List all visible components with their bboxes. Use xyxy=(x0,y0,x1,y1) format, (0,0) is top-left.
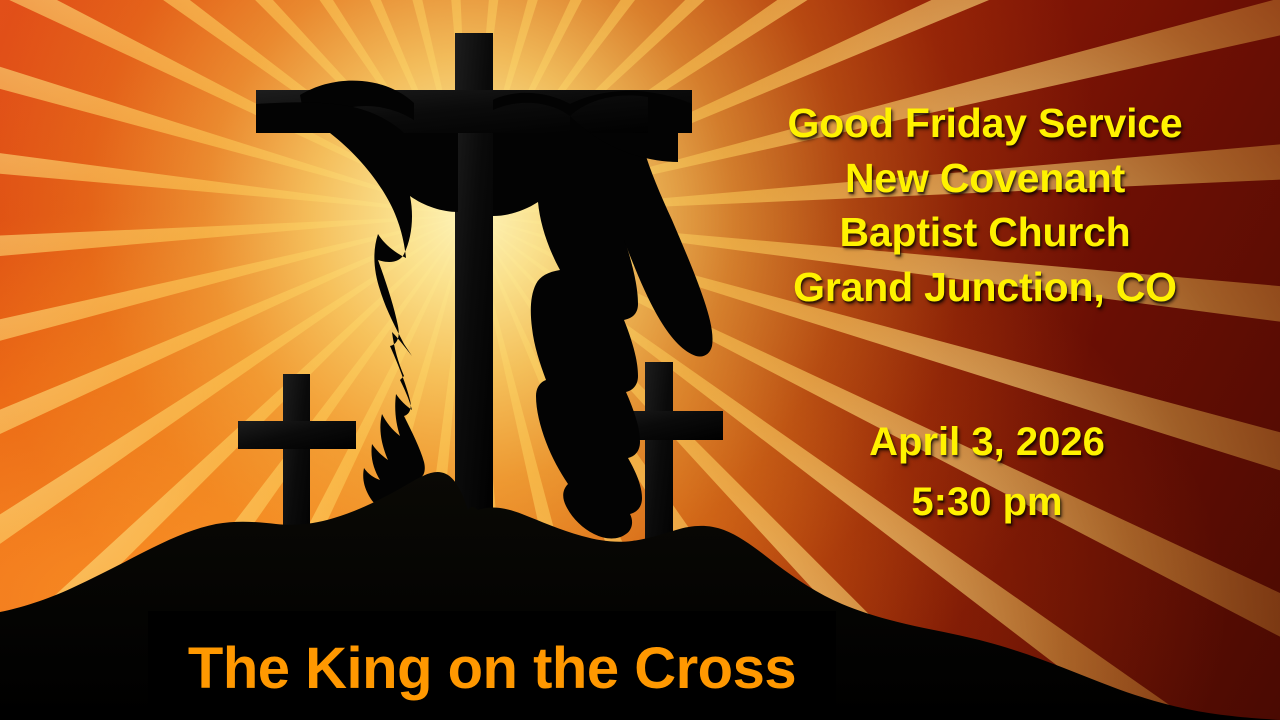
headline-line-3: Baptist Church xyxy=(735,205,1235,260)
headline-line-2: New Covenant xyxy=(735,151,1235,206)
headline-line-1: Good Friday Service xyxy=(735,96,1235,151)
event-datetime: April 3, 2026 5:30 pm xyxy=(762,412,1212,532)
slide-title: The King on the Cross xyxy=(188,640,796,698)
event-headline: Good Friday Service New Covenant Baptist… xyxy=(735,96,1235,314)
headline-line-4: Grand Junction, CO xyxy=(735,260,1235,315)
event-date: April 3, 2026 xyxy=(762,412,1212,472)
slide-canvas: Good Friday Service New Covenant Baptist… xyxy=(0,0,1280,720)
event-time: 5:30 pm xyxy=(762,472,1212,532)
title-banner: The King on the Cross xyxy=(148,611,836,720)
